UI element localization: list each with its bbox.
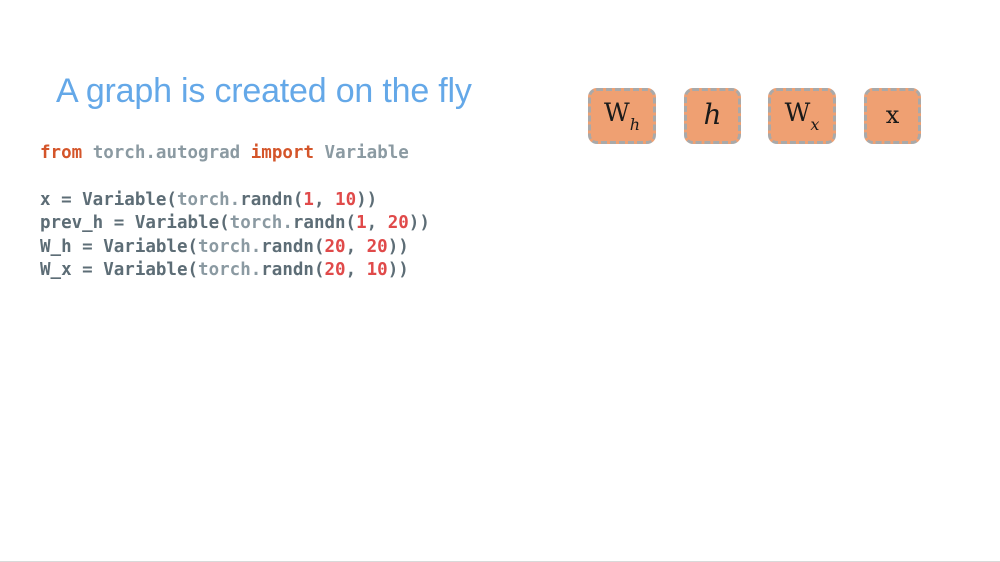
node-W-h[interactable]: Wh [588, 88, 656, 144]
code-token: torch. [177, 190, 240, 210]
code-token: )) [409, 213, 430, 233]
code-token: 10 [367, 260, 388, 280]
code-token: 20 [367, 237, 388, 257]
node-h[interactable]: h [684, 88, 741, 144]
node-label-base: W [785, 98, 811, 127]
code-token: torch.autograd [93, 143, 241, 163]
node-label-base: h [703, 98, 721, 131]
code-token: import [251, 143, 314, 163]
line-W-x: W_x = Variable(torch.randn(20, 10)) [40, 259, 430, 283]
line-x: x = Variable(torch.randn(1, 10)) [40, 189, 430, 213]
code-token: 1 [303, 190, 314, 210]
node-label-subscript: x [810, 115, 819, 134]
code-token: randn( [240, 190, 303, 210]
node-label: Wh [604, 100, 640, 130]
code-token [82, 143, 93, 163]
code-token: from [40, 143, 82, 163]
node-label-subscript: h [630, 115, 640, 134]
node-label: h [703, 101, 721, 129]
page-title: A graph is created on the fly [56, 73, 472, 110]
line-W-h: W_h = Variable(torch.randn(20, 20)) [40, 236, 430, 260]
code-token: )) [388, 260, 409, 280]
code-token: W_x = Variable( [40, 260, 198, 280]
code-token: , [367, 213, 388, 233]
code-token: , [346, 260, 367, 280]
node-label: x [886, 103, 900, 127]
line-import: from torch.autograd import Variable [40, 142, 430, 166]
code-token: 20 [324, 260, 345, 280]
code-token: 1 [356, 213, 367, 233]
code-token: prev_h = Variable( [40, 213, 230, 233]
node-label-base: W [604, 98, 630, 127]
code-token: torch. [230, 213, 293, 233]
code-token: 10 [335, 190, 356, 210]
code-token: , [314, 190, 335, 210]
code-token: 20 [324, 237, 345, 257]
code-token: randn( [261, 260, 324, 280]
code-token: randn( [261, 237, 324, 257]
code-token: x = Variable( [40, 190, 177, 210]
code-token: 20 [388, 213, 409, 233]
code-token [240, 143, 251, 163]
code-block: from torch.autograd import Variable x = … [40, 142, 430, 283]
slide-canvas: A graph is created on the fly from torch… [0, 0, 1000, 561]
code-token: , [346, 237, 367, 257]
node-W-x[interactable]: Wx [768, 88, 836, 144]
code-token: Variable [325, 143, 409, 163]
node-label: Wx [785, 100, 820, 130]
code-token: )) [388, 237, 409, 257]
code-token: randn( [293, 213, 356, 233]
line-prev-h: prev_h = Variable(torch.randn(1, 20)) [40, 212, 430, 236]
node-x[interactable]: x [864, 88, 921, 144]
code-token [314, 143, 325, 163]
code-token: torch. [198, 260, 261, 280]
code-token: torch. [198, 237, 261, 257]
node-label-base: x [886, 101, 900, 129]
code-token: )) [356, 190, 377, 210]
code-token: W_h = Variable( [40, 237, 198, 257]
line-blank [40, 166, 430, 189]
